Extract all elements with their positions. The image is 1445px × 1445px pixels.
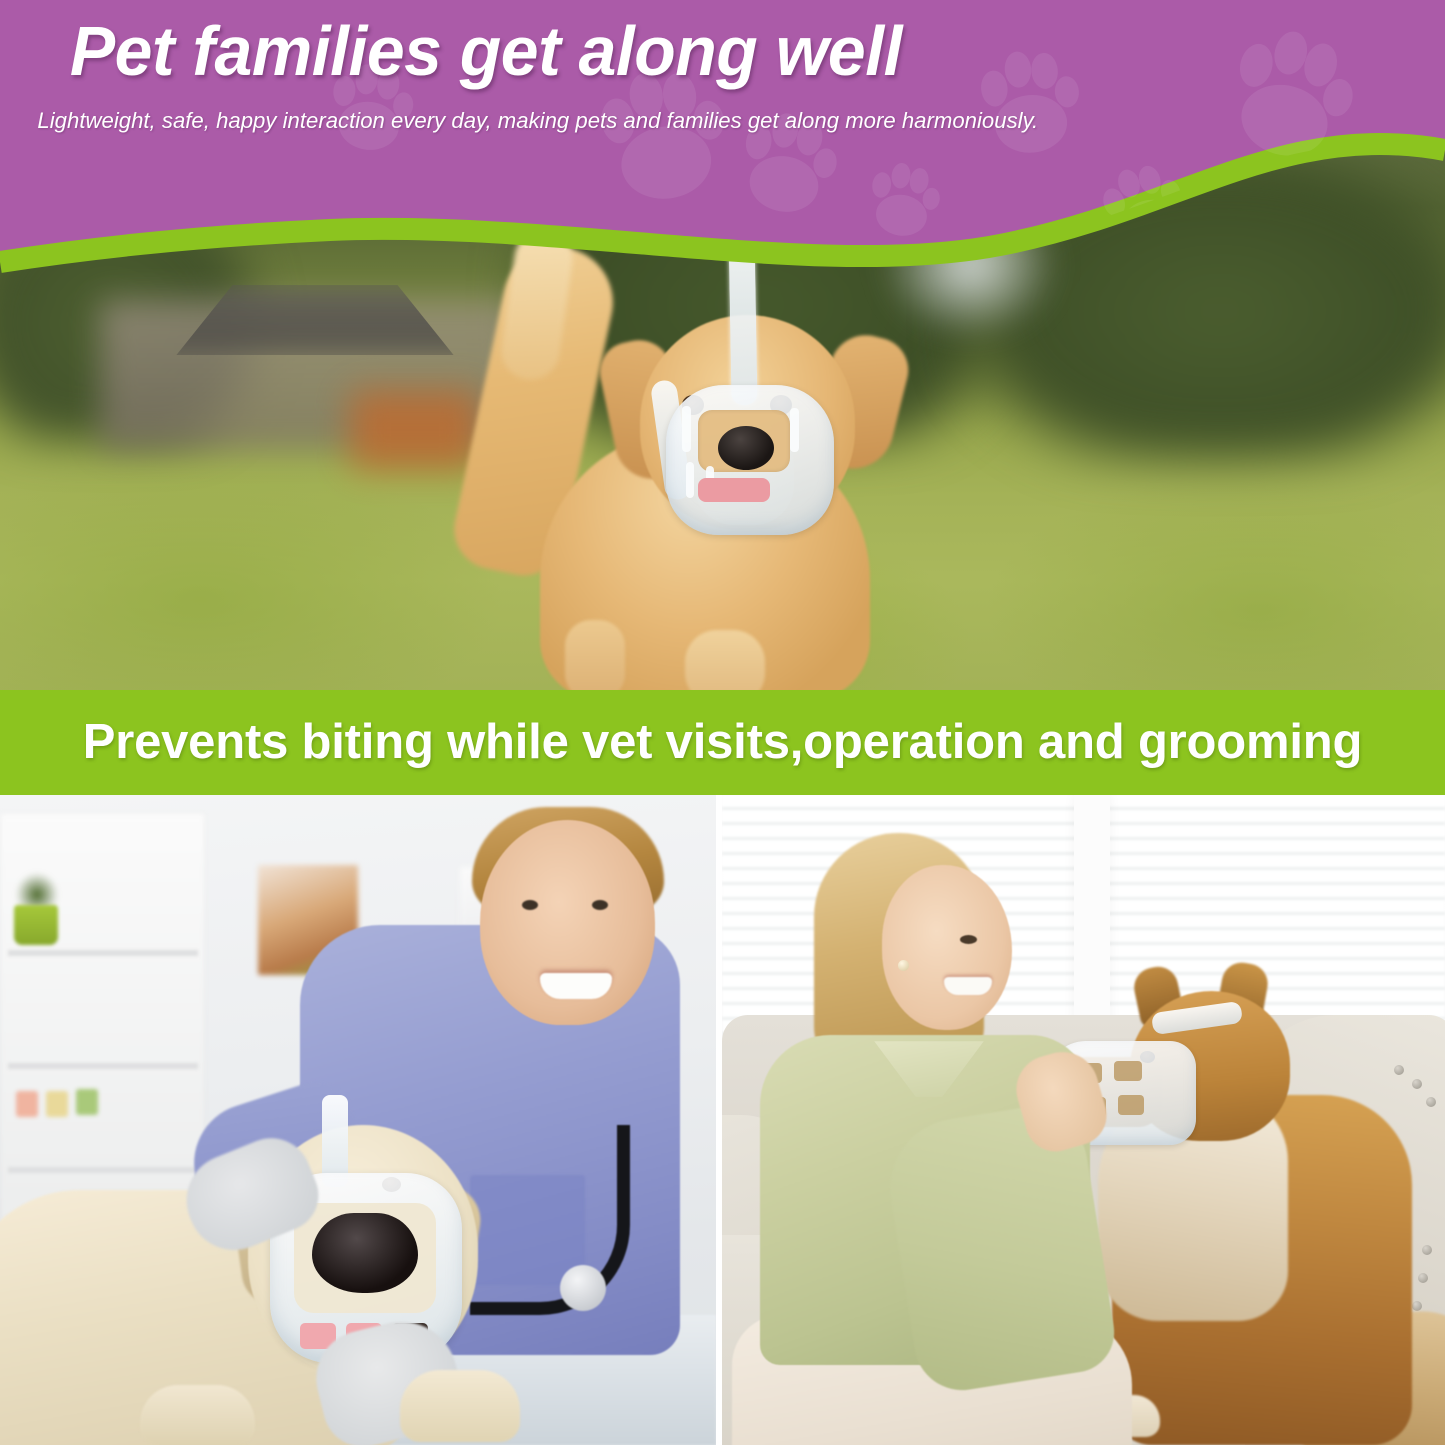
muzzle-bar-2 <box>790 408 799 452</box>
shelf-line-3 <box>8 1167 198 1173</box>
woman-smile <box>944 977 992 995</box>
shelf-line-1 <box>8 950 198 956</box>
stethoscope-chestpiece <box>560 1265 606 1311</box>
bottom-photo-row <box>0 795 1445 1445</box>
dog-mouth-opening <box>698 478 770 502</box>
vet-dog-paw-right <box>400 1370 520 1442</box>
sheltie-muzzle-gap-2 <box>1114 1061 1142 1081</box>
vet-dog-paw-left <box>140 1385 255 1445</box>
woman-face <box>882 865 1012 1030</box>
sofa-stud-5 <box>1418 1273 1428 1283</box>
shelf-line-2 <box>8 1063 198 1069</box>
shelf-cup-2 <box>46 1091 68 1117</box>
photo-vet-clinic <box>0 795 716 1445</box>
vet-eye-left <box>522 900 538 910</box>
page-title: Pet families get along well <box>0 0 1402 86</box>
feature-banner: Prevents biting while vet visits,operati… <box>0 690 1445 795</box>
feature-banner-text: Prevents biting while vet visits,operati… <box>0 718 1445 767</box>
shelf-cup-3 <box>76 1089 98 1115</box>
shelf-cup-1 <box>16 1091 38 1117</box>
dog-leg-left <box>565 620 625 690</box>
sofa-stud-1 <box>1394 1065 1404 1075</box>
product-infographic: Pet families get along well Lightweight,… <box>0 0 1445 1445</box>
vet-smile <box>540 973 612 999</box>
photo-divider <box>716 795 722 1445</box>
sofa-stud-4 <box>1422 1245 1432 1255</box>
vet-dog-nose <box>312 1213 418 1293</box>
vet-eye-right <box>592 900 608 910</box>
clinic-plant-leaves <box>16 873 58 909</box>
muzzle-bar-3 <box>686 462 694 498</box>
muzzle-bar-1 <box>682 406 691 452</box>
woman-earring <box>898 960 909 971</box>
sofa-stud-6 <box>1412 1301 1422 1311</box>
hero-text-block: Pet families get along well Lightweight,… <box>0 0 1445 134</box>
sofa-stud-2 <box>1412 1079 1422 1089</box>
sheltie-muzzle-gap-4 <box>1118 1095 1144 1115</box>
page-subtitle: Lightweight, safe, happy interaction eve… <box>0 86 1423 134</box>
clinic-plant-pot <box>14 905 58 945</box>
dog-nose <box>718 426 774 470</box>
woman-eye <box>960 935 977 944</box>
hero-section: Pet families get along well Lightweight,… <box>0 0 1445 690</box>
sofa-stud-3 <box>1426 1097 1436 1107</box>
photo-home-sofa <box>722 795 1445 1445</box>
hero-dog <box>430 230 1050 690</box>
dog-leg-right <box>685 630 765 690</box>
